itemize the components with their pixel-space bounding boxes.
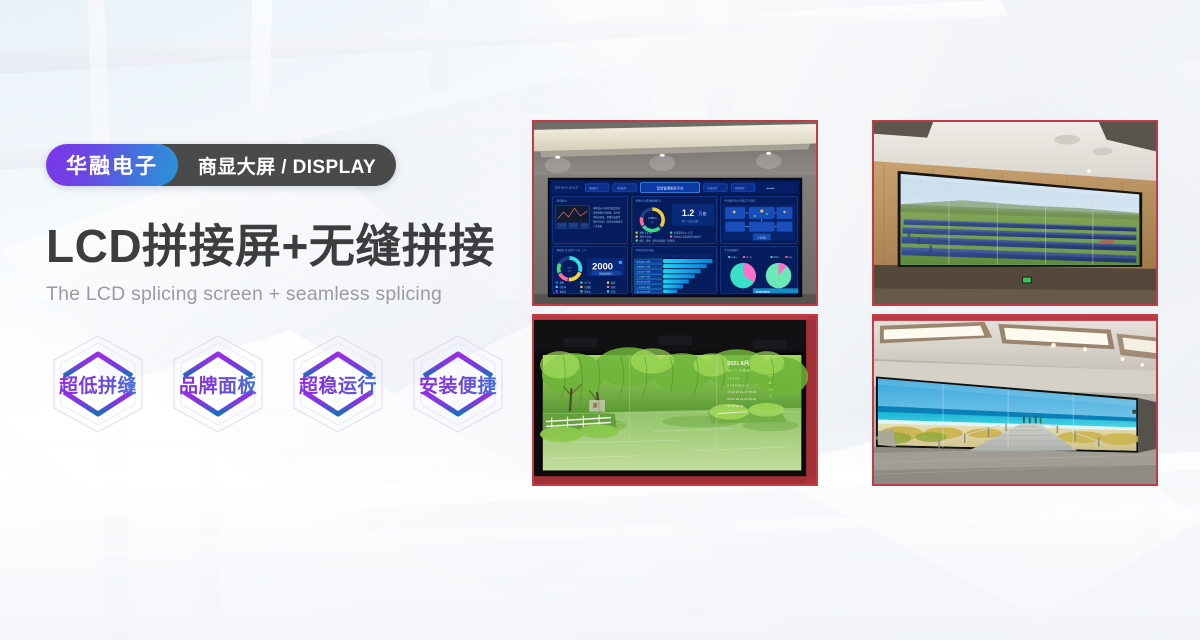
product-photo-solar-wall: 木饰面墙体超宽 LCD 拼接屏显示光伏电站航拍画面 <box>872 120 1158 306</box>
svg-text:万人: 万人 <box>568 270 572 273</box>
svg-text:20 21 22 23 24 25 26: 20 21 22 23 24 25 26 <box>727 397 756 401</box>
svg-text:13582.6: 13582.6 <box>648 218 657 220</box>
headline-block: 商显大屏 / DISPLAY 华融电子 LCD拼接屏+无缝拼接 The LCD … <box>46 144 516 436</box>
svg-text:万座: 万座 <box>699 211 707 216</box>
feature-badge-3: 超稳运行 <box>286 332 390 436</box>
brand-company-pill: 华融电子 <box>46 144 178 186</box>
feature-badge-list: 超低拼缝 品牌面板 超稳运行 <box>46 332 516 436</box>
svg-text:■■ ■■■: ■■ ■■■ <box>767 187 775 190</box>
page-subtitle: The LCD splicing screen + seamless splic… <box>46 283 516 306</box>
svg-text:2000: 2000 <box>592 262 613 272</box>
svg-text:2021-06-12 10:31:27: 2021-06-12 10:31:27 <box>555 186 579 190</box>
product-photo-landscape-wall: 2021 6月 日 一 二 三 四 五 六 1 2 3 4 5 6 7 8 9 … <box>532 314 818 486</box>
svg-text:环境监测分布图: 环境监测分布图 <box>636 248 654 252</box>
svg-text:智慧管理服务平台: 智慧管理服务平台 <box>657 186 684 191</box>
svg-text:■■■■■■■■■■■: ■■■■■■■■■■■ <box>756 290 771 293</box>
brand-category-label: 商显大屏 / DISPLAY <box>198 152 376 179</box>
feature-badge-label: 超稳运行 <box>299 371 377 398</box>
svg-text:13 14 15 16 17 18 19: 13 14 15 16 17 18 19 <box>727 390 756 394</box>
svg-text:日 一 二 三 四 五 六: 日 一 二 三 四 五 六 <box>727 368 753 373</box>
product-photo-beach-wall: 大厅超宽 LCD 拼接屏显示海滨栈道风景画面 <box>872 314 1158 486</box>
svg-text:基础能力: 基础能力 <box>557 198 568 202</box>
svg-text:2021 6月: 2021 6月 <box>727 359 749 367</box>
product-photo-dashboard-wall: 2021-06-12 10:31:27 智慧管理服务平台 基础能力 环境监测 环… <box>532 120 818 306</box>
brand-badge: 商显大屏 / DISPLAY 华融电子 <box>46 144 178 186</box>
svg-text:基地企业资源数据统计: 基地企业资源数据统计 <box>636 198 662 202</box>
svg-text:1.2: 1.2 <box>682 208 694 218</box>
svg-text:平台数据统计: 平台数据统计 <box>724 248 740 252</box>
feature-badge-2: 品牌面板 <box>166 332 270 436</box>
feature-badge-label: 超低拼缝 <box>59 371 137 398</box>
promo-banner: 商显大屏 / DISPLAY 华融电子 LCD拼接屏+无缝拼接 The LCD … <box>0 0 1200 640</box>
page-title: LCD拼接屏+无缝拼接 <box>46 222 516 270</box>
svg-text:27 28 29 30: 27 28 29 30 <box>727 404 743 408</box>
feature-badge-label: 安装便捷 <box>419 371 497 398</box>
brand-company-label: 华融电子 <box>66 150 158 180</box>
svg-text:1 2 3 4 5: 1 2 3 4 5 <box>727 377 739 381</box>
feature-badge-4: 安装便捷 <box>406 332 510 436</box>
brand-category-pill: 商显大屏 / DISPLAY <box>142 144 396 186</box>
svg-text:1: 1 <box>673 256 674 258</box>
feature-badge-1: 超低拼缝 <box>46 332 150 436</box>
svg-text:种植区 农业用户人次（人）: 种植区 农业用户人次（人） <box>557 248 588 252</box>
svg-text:生态循环农业与精工产品链: 生态循环农业与精工产品链 <box>724 198 755 202</box>
feature-badge-label: 品牌面板 <box>179 371 257 398</box>
svg-text:6 7 8 9 10 11 12: 6 7 8 9 10 11 12 <box>727 383 749 387</box>
